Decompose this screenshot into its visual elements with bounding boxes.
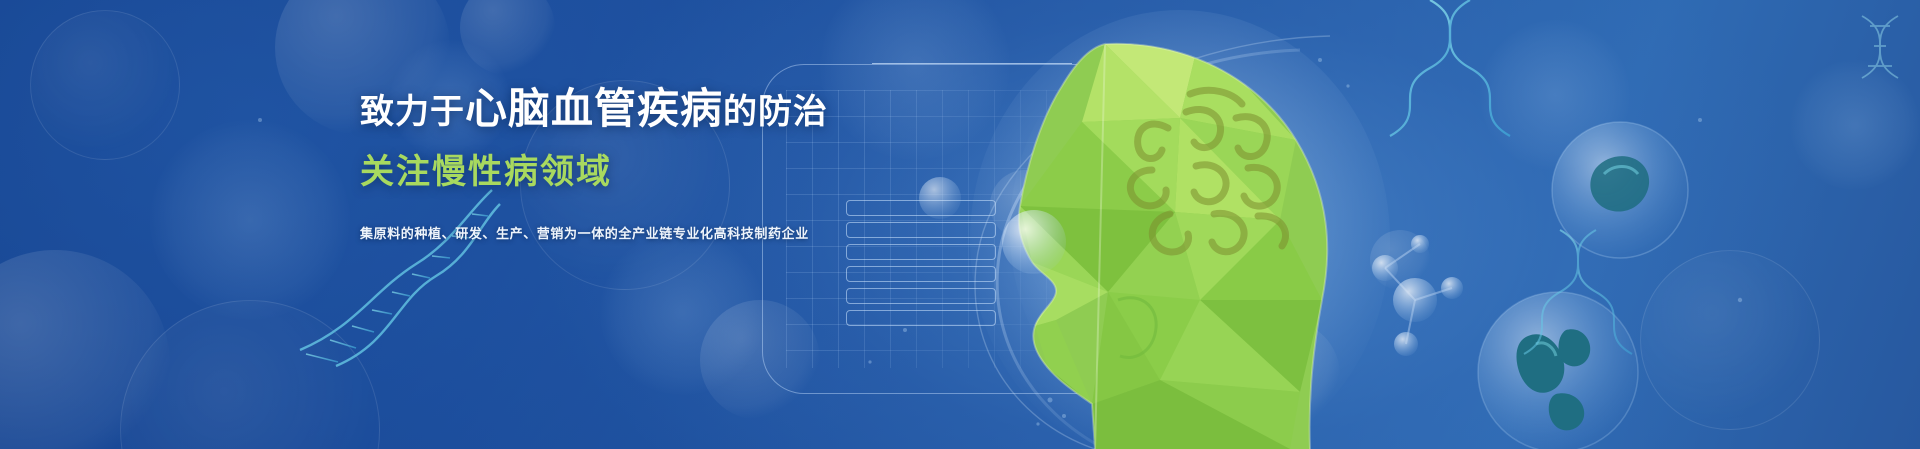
- page-description: 集原料的种植、研发、生产、营销为一体的全产业链专业化高科技制药企业: [360, 223, 830, 242]
- banner-artwork: [0, 0, 1920, 449]
- dna-helix-top-right: [1390, 0, 1510, 136]
- page-subtitle: 关注慢性病领域: [360, 144, 830, 193]
- floating-sphere: [919, 177, 961, 219]
- hero-banner: 致力于心脑血管疾病的防治 关注慢性病领域 集原料的种植、研发、生产、营销为一体的…: [0, 0, 1920, 449]
- floating-sphere: [1002, 210, 1066, 274]
- headline-emphasis: 心脑血管疾病: [465, 85, 723, 132]
- cell-top-right: [1552, 122, 1688, 258]
- dna-helix-far-top-right: [1862, 16, 1898, 78]
- banner-copy: 致力于心脑血管疾病的防治 关注慢性病领域 集原料的种植、研发、生产、营销为一体的…: [360, 88, 830, 242]
- headline-part-1: 致力于: [360, 93, 465, 131]
- page-title: 致力于心脑血管疾病的防治: [360, 88, 830, 130]
- headline-part-2: 的防治: [723, 93, 828, 131]
